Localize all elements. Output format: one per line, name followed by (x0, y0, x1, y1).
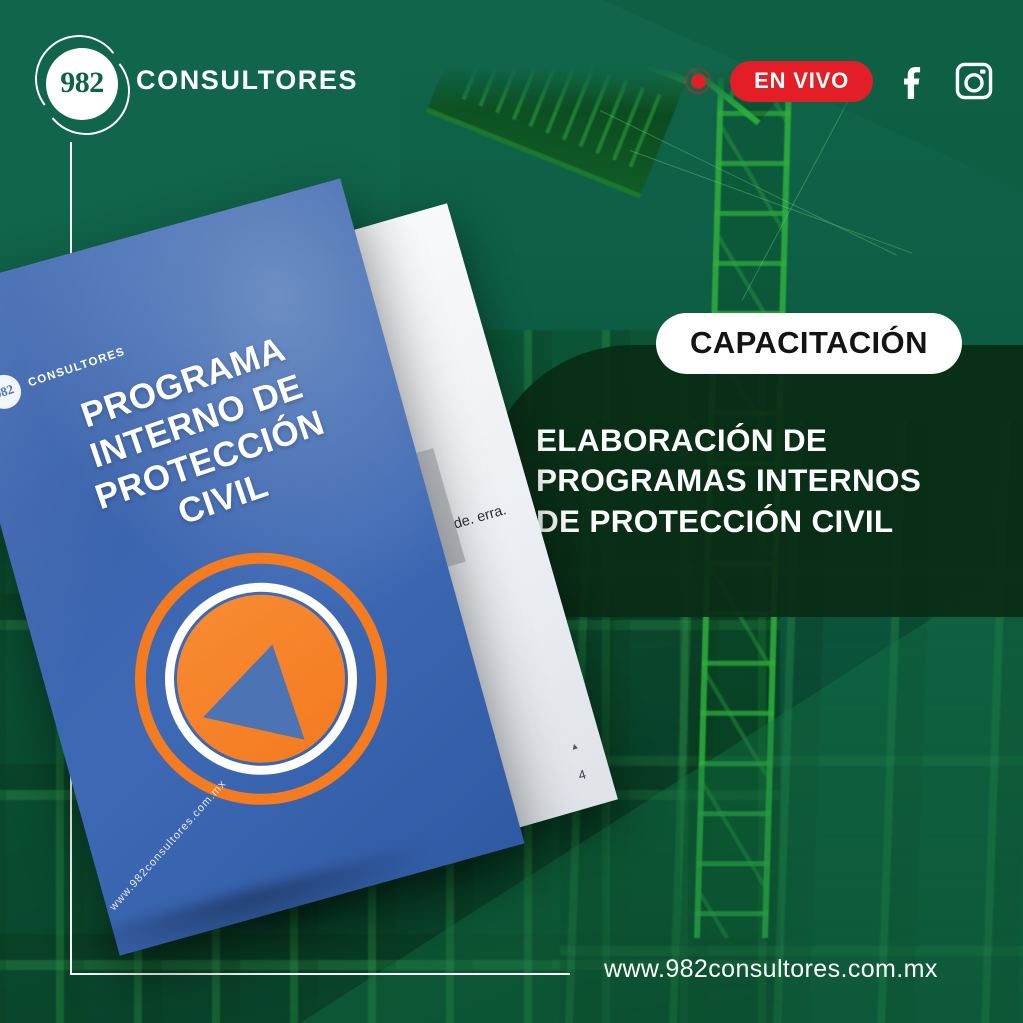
booklet-page-number: 4 (577, 766, 588, 782)
category-badge: CAPACITACIÓN (656, 313, 962, 374)
live-and-social-row: EN VIVO (685, 60, 995, 102)
logo-number: 982 (46, 48, 118, 120)
booklet-mockup: est. nt, ore tum vide. erra. ▲ 4 982 CON… (0, 200, 620, 940)
record-dot-icon (685, 68, 711, 94)
proteccion-civil-triangle-icon (106, 524, 416, 834)
live-badge[interactable]: EN VIVO (730, 61, 873, 102)
brand-name: CONSULTORES (136, 65, 358, 96)
booklet-inner-mini-logo: ▲ (569, 740, 581, 752)
record-dot-ring (685, 68, 711, 94)
footer-website[interactable]: www.982consultores.com.mx (604, 955, 938, 984)
logo-disc: 982 (46, 48, 118, 120)
brand-logo[interactable]: 982 (30, 33, 133, 136)
facebook-icon[interactable] (892, 60, 934, 102)
booklet-cover-logo-number: 982 (0, 370, 26, 413)
instagram-icon[interactable] (953, 60, 995, 102)
poster-canvas: 982 CONSULTORES EN VIVO CAPACITACIÓN EL (0, 0, 1023, 1023)
booklet-cover-logo-word: CONSULTORES (27, 346, 127, 390)
